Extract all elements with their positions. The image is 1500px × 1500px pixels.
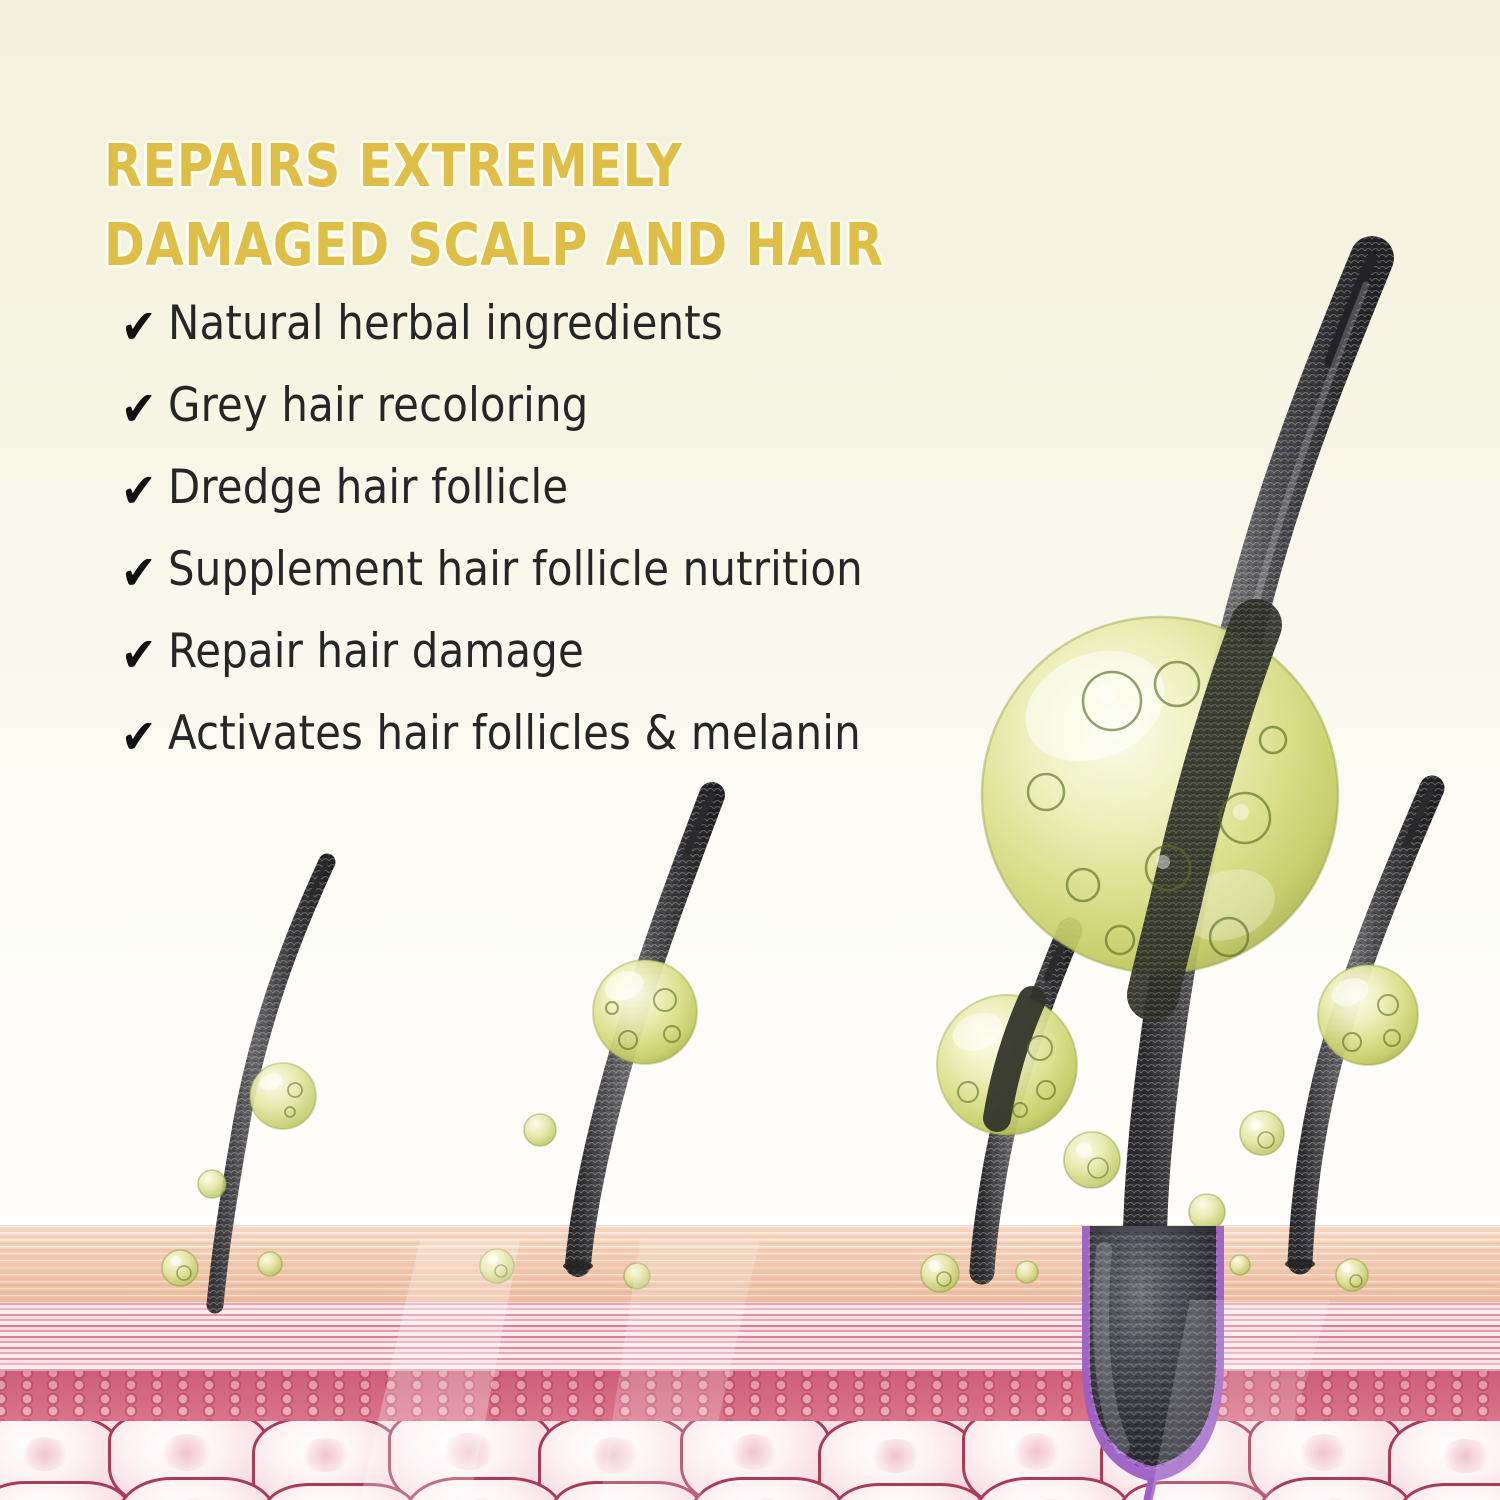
list-item: ✔ Repair hair damage [118, 624, 1018, 706]
list-item: ✔ Grey hair recoloring [118, 378, 1018, 460]
check-icon: ✔ [121, 385, 165, 433]
droplet-on-far-left-hair [250, 1063, 316, 1129]
list-item-label: Activates hair follicles & melanin [168, 706, 861, 761]
list-item-label: Dredge hair follicle [168, 460, 568, 515]
list-item: ✔ Natural herbal ingredients [118, 296, 1018, 378]
benefits-list: ✔ Natural herbal ingredients ✔ Grey hair… [118, 296, 1018, 788]
list-item-label: Grey hair recoloring [168, 378, 588, 433]
droplet-on-right-hair [1318, 965, 1418, 1065]
list-item-label: Repair hair damage [168, 624, 584, 679]
droplet-medium [937, 995, 1077, 1135]
list-item-label: Natural herbal ingredients [168, 296, 723, 351]
list-item: ✔ Activates hair follicles & melanin [118, 706, 1018, 788]
product-infographic: REPAIRS EXTREMELY DAMAGED SCALP AND HAIR… [0, 0, 1500, 1500]
droplet-large [982, 617, 1338, 995]
check-icon: ✔ [121, 467, 165, 515]
list-item-label: Supplement hair follicle nutrition [168, 542, 863, 597]
check-icon: ✔ [121, 549, 165, 597]
page-title: REPAIRS EXTREMELY DAMAGED SCALP AND HAIR [104, 126, 904, 284]
droplet-on-left-center-hair [593, 960, 697, 1064]
list-item: ✔ Supplement hair follicle nutrition [118, 542, 1018, 624]
check-icon: ✔ [121, 631, 165, 679]
check-icon: ✔ [121, 303, 165, 351]
check-icon: ✔ [121, 713, 165, 761]
list-item: ✔ Dredge hair follicle [118, 460, 1018, 542]
